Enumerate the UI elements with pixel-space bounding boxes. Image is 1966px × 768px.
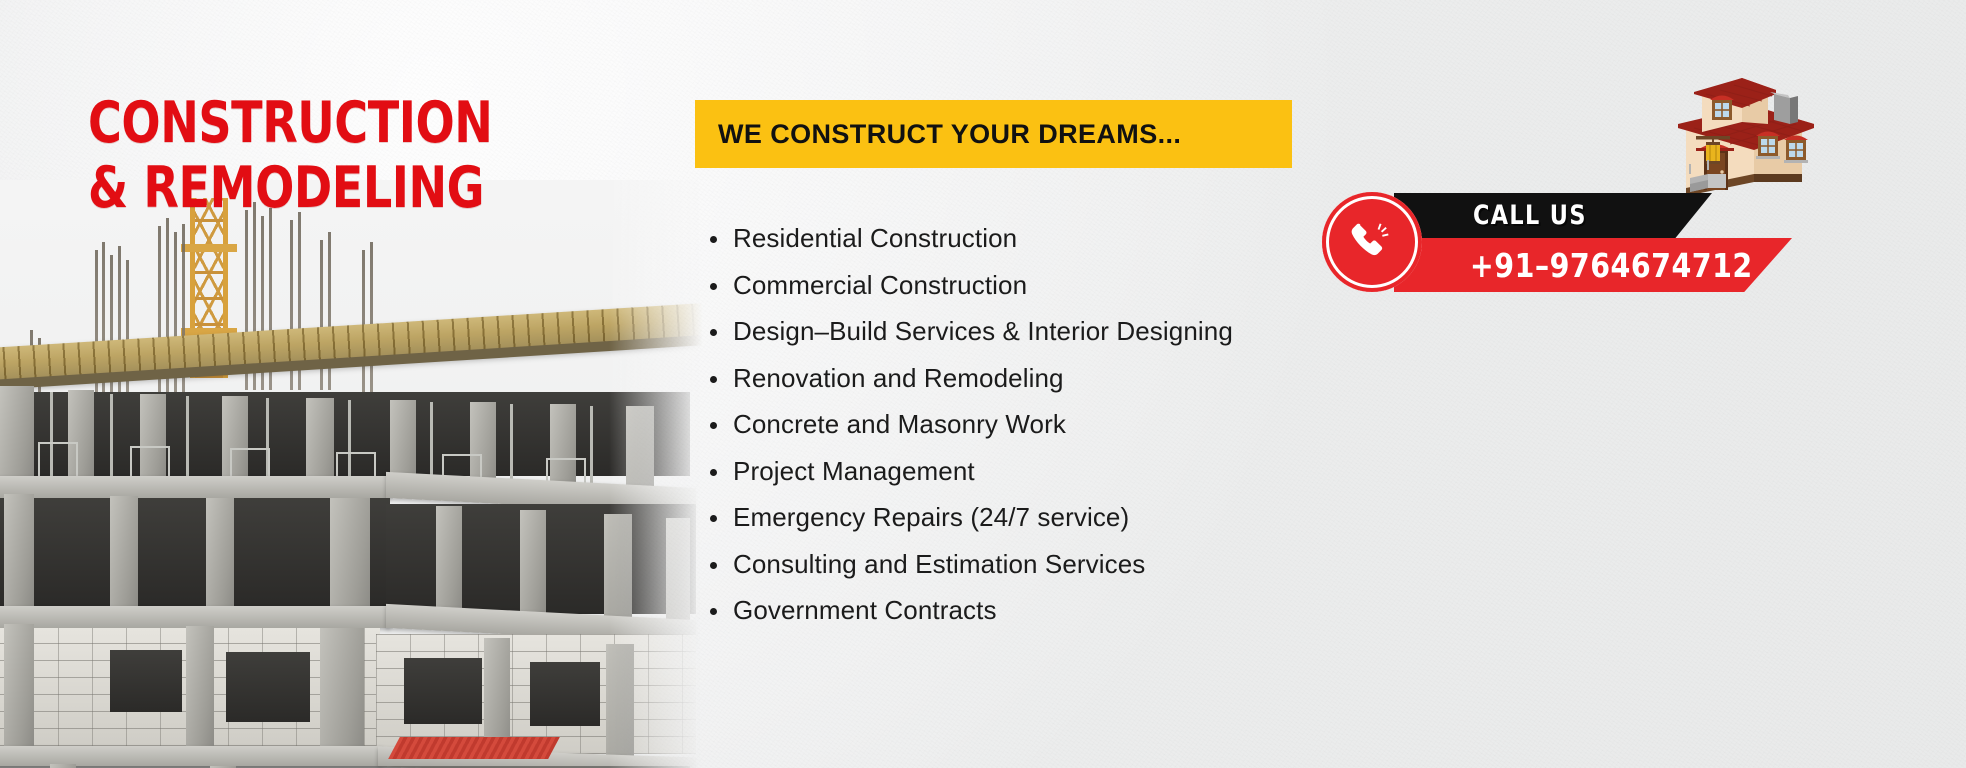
list-item: Government Contracts [700, 587, 1233, 634]
list-item: Residential Construction [700, 215, 1233, 262]
phone-number-ribbon[interactable]: +91–9764674712 [1394, 238, 1792, 292]
list-item: Project Management [700, 448, 1233, 495]
list-item: Commercial Construction [700, 262, 1233, 309]
list-item: Design–Build Services & Interior Designi… [700, 308, 1233, 355]
list-item: Renovation and Remodeling [700, 355, 1233, 402]
tagline-banner: WE CONSTRUCT YOUR DREAMS... [695, 100, 1292, 168]
headline-line-1: CONSTRUCTION [88, 96, 492, 151]
list-item: Consulting and Estimation Services [700, 541, 1233, 588]
list-item: Emergency Repairs (24/7 service) [700, 494, 1233, 541]
call-us-badge[interactable]: CALL US +91–9764674712 [1322, 186, 1792, 301]
phone-ringing-icon[interactable] [1322, 192, 1422, 292]
call-us-ribbon: CALL US [1394, 193, 1712, 240]
phone-number-text: +91–9764674712 [1470, 246, 1753, 285]
tagline-text: WE CONSTRUCT YOUR DREAMS... [695, 119, 1181, 150]
headline-line-2: & REMODELING [88, 161, 492, 216]
construction-photo [0, 180, 710, 768]
list-item: Concrete and Masonry Work [700, 401, 1233, 448]
page-title: CONSTRUCTION & REMODELING [88, 96, 492, 215]
services-list: Residential Construction Commercial Cons… [700, 215, 1233, 634]
construction-banner: CONSTRUCTION & REMODELING WE CONSTRUCT Y… [0, 0, 1966, 768]
red-roof-detail [388, 737, 560, 759]
call-us-label: CALL US [1473, 200, 1587, 231]
house-3d-illustration [1650, 62, 1820, 202]
